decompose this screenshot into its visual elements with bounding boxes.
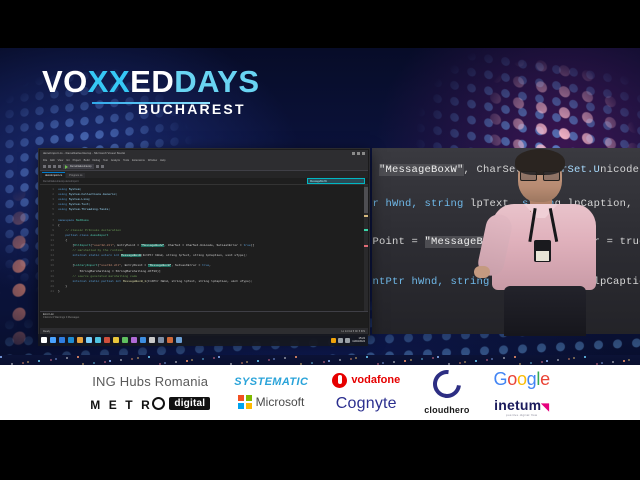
network-node-dot: [191, 359, 193, 361]
taskbar-app-icon-9[interactable]: [122, 337, 128, 343]
menu-item-project[interactable]: Project: [73, 159, 81, 162]
network-node-dot: [459, 362, 461, 364]
google-letter: g: [527, 369, 537, 389]
code-token: System.Threading.Tasks;: [69, 208, 110, 211]
code-token: , EntryPoint =: [121, 264, 148, 267]
sponsor-logo-systematic: SYSTEMATIC: [234, 376, 308, 388]
network-node-dot: [148, 356, 150, 358]
code-token: internal static extern int: [72, 254, 121, 257]
network-node-dot: [104, 361, 106, 363]
menu-item-debug[interactable]: Debug: [92, 159, 100, 162]
speaker-badge: [534, 240, 551, 262]
code-token: "MessageBoxW": [141, 244, 164, 247]
taskbar-app-icon-4[interactable]: [77, 337, 83, 343]
network-node-dot: [421, 358, 423, 360]
speaker-badge-card: [536, 251, 549, 261]
network-node-dot: [486, 359, 488, 361]
voxxed-days-logo: VOXXEDDAYS BUCHAREST: [42, 66, 260, 117]
network-node-dot: [0, 356, 2, 358]
network-node-dot: [623, 360, 625, 362]
code-token: "user32.dll": [99, 264, 121, 267]
projected-code-token: =: [372, 164, 379, 176]
network-node-dot: [514, 356, 516, 358]
projected-code-token: string: [425, 198, 471, 210]
network-node-dot: [93, 362, 95, 364]
code-token: // source generated marshalling code: [72, 275, 137, 278]
projected-code-token: tr hWnd,: [372, 198, 425, 210]
code-token: (IntPtr hWnd, string lpText, string lpCa…: [146, 280, 252, 283]
notification-icon[interactable]: [331, 338, 336, 343]
code-token: "MessageBoxW": [148, 264, 171, 267]
vodafone-speechmark-icon: [332, 373, 347, 388]
code-token: "user32.dll": [92, 244, 114, 247]
code-token: class: [80, 234, 91, 237]
menu-item-analyze[interactable]: Analyze: [111, 159, 120, 162]
taskbar-app-icon-11[interactable]: [140, 337, 146, 343]
network-node-dot: [573, 357, 575, 359]
network-node-dot: [218, 356, 220, 358]
code-token: }: [58, 290, 60, 293]
volume-icon[interactable]: [345, 338, 350, 343]
network-node-dot: [295, 356, 297, 358]
vs-window-title: demoImport.cs - DemoNativeInterop - Micr…: [43, 152, 125, 155]
code-token: MessageBoxW: [121, 254, 141, 257]
microsoft-square-green: [246, 395, 252, 401]
taskbar-app-icon-13[interactable]: [158, 337, 164, 343]
window-controls[interactable]: [352, 152, 365, 155]
network-node-dot: [355, 357, 357, 359]
logo-vo: VO: [42, 64, 88, 99]
network-node-dot: [366, 356, 368, 358]
line-number-gutter: 123456789101112131415161718192021: [40, 185, 56, 311]
code-token: using: [58, 198, 69, 201]
code-token: {: [58, 239, 67, 242]
projected-code-token: yPoint =: [372, 236, 425, 248]
inetum-label: inetum◥: [494, 397, 549, 413]
start-debug-button[interactable]: DemoNativeInterop: [63, 164, 94, 169]
menu-item-help[interactable]: Help: [160, 159, 165, 162]
config-dropdown-icon[interactable]: [96, 165, 99, 168]
editor-scrollbar[interactable]: [364, 185, 368, 311]
sponsor-logo-inetum: inetum◥ positive digital flow: [494, 397, 549, 417]
sponsor-logo-vodafone: vodafone: [332, 373, 400, 388]
taskbar-app-icon-2[interactable]: [59, 337, 65, 343]
speaker-hand: [474, 266, 490, 278]
network-node-dot: [393, 361, 395, 363]
sponsor-group-systematic-microsoft: SYSTEMATIC Microsoft: [234, 376, 308, 409]
network-node-dot: [328, 360, 330, 362]
sponsor-logo-cognyte: Cognyte: [336, 395, 397, 413]
network-node-dot: [137, 357, 139, 359]
metro-label: M E T R: [90, 396, 165, 412]
cloudhero-label: cloudhero: [424, 405, 469, 415]
code-token: LibraryImport: [74, 264, 97, 267]
network-node-dot: [628, 359, 630, 361]
code-token: , SetLastError =: [171, 264, 202, 267]
sponsor-logo-ing-hubs-romania: ING Hubs Romania: [92, 374, 208, 389]
network-node-dot: [284, 357, 286, 359]
projected-code-token: = true,: [600, 236, 640, 248]
projected-code-token: "MessageB: [425, 236, 484, 248]
code-token: // marshalled by the runtime: [72, 249, 122, 252]
code-token: System.Text;: [69, 203, 91, 206]
network-node-dot: [612, 361, 614, 363]
speaker-legs: [504, 286, 586, 336]
microsoft-logo-icon: [238, 395, 252, 409]
taskbar-app-icons[interactable]: [41, 337, 182, 343]
code-token: [: [58, 264, 74, 267]
network-node-dot: [350, 358, 352, 360]
code-token: demoImport: [90, 234, 108, 237]
glasses-icon: [520, 171, 560, 179]
code-token: internal static partial int: [72, 280, 122, 283]
taskbar-app-icon-15[interactable]: [176, 337, 182, 343]
vs-toolbar[interactable]: DemoNativeInterop: [40, 163, 368, 171]
platform-dropdown-icon[interactable]: [101, 165, 104, 168]
search-input[interactable]: MessageBoxW: [307, 178, 365, 185]
network-node-dot: [246, 361, 248, 363]
code-token: , CharSet = CharSet.Unicode, SetLastErro…: [164, 244, 243, 247]
code-token: (IntPtr hWnd, string lpText, string lpCa…: [141, 254, 247, 257]
line-number: 21: [40, 289, 54, 294]
code-token: NatDemo: [76, 219, 89, 222]
network-node-dot: [475, 360, 477, 362]
taskbar-app-icon-8[interactable]: [113, 337, 119, 343]
microsoft-square-blue: [238, 403, 244, 409]
code-token: System.Collections.Generic;: [69, 193, 118, 196]
network-node-dot: [464, 361, 466, 363]
projected-code-token: "MessageBoxW": [379, 164, 464, 176]
ing-hubs-romania-label: ING Hubs Romania: [92, 374, 208, 389]
network-node-dot: [584, 356, 586, 358]
error-list-panel[interactable]: Error List 0 Errors 0 Warnings 0 Message…: [40, 311, 368, 328]
laptop-screen: demoImport.cs - DemoNativeInterop - Micr…: [38, 148, 370, 336]
microsoft-square-yellow: [246, 403, 252, 409]
code-token: // classic P/Invoke declaration: [65, 229, 121, 232]
cognyte-label: Cognyte: [336, 395, 397, 413]
network-node-dot: [601, 362, 603, 364]
menu-item-git[interactable]: Git: [66, 159, 69, 162]
projected-code-token: on, uint u: [613, 198, 640, 210]
windows-taskbar[interactable]: 15:24 11/03/2024: [38, 334, 368, 346]
scroll-marker-warning: [364, 215, 368, 217]
taskbar-app-icon-10[interactable]: [131, 337, 137, 343]
code-token: true: [243, 244, 250, 247]
play-icon: [65, 165, 68, 169]
code-token: System.Linq;: [69, 198, 91, 201]
network-node-dot: [257, 360, 259, 362]
code-token: DllImport: [74, 244, 90, 247]
maximize-icon[interactable]: [357, 152, 360, 155]
sponsor-group-vodafone-cognyte: vodafone Cognyte: [332, 373, 400, 413]
microsoft-label: Microsoft: [256, 395, 305, 409]
network-node-dot: [38, 360, 40, 362]
network-node-dot: [382, 362, 384, 364]
network-node-dot: [557, 359, 559, 361]
menu-item-extensions[interactable]: Extensions: [132, 159, 145, 162]
status-caret-position: Ln 14 Col 5 Ch 5 INS: [341, 330, 365, 333]
vodafone-label: vodafone: [351, 374, 400, 386]
glasses-bridge: [535, 174, 545, 175]
inetum-tagline: positive digital flow: [506, 413, 537, 417]
network-node-dot: [404, 360, 406, 362]
network-node-dot: [323, 361, 325, 363]
code-token: MessageBoxW_1: [123, 280, 146, 283]
breadcrumb: DemoNativeInterop.demoImport: [43, 180, 79, 183]
debug-target-label: DemoNativeInterop: [70, 165, 92, 168]
network-node-dot: [22, 362, 24, 364]
close-icon[interactable]: [362, 152, 365, 155]
code-token: )]: [251, 244, 255, 247]
network-node-dot: [568, 358, 570, 360]
sponsor-band: ING Hubs Romania M E T R digital SYSTEMA…: [0, 355, 640, 420]
undo-icon[interactable]: [58, 165, 61, 168]
menu-item-tools[interactable]: Tools: [123, 159, 129, 162]
google-letter: o: [507, 369, 517, 389]
sponsor-group-ing-metro: ING Hubs Romania M E T R digital: [90, 374, 210, 412]
network-node-dot: [503, 357, 505, 359]
status-ready: Ready: [43, 330, 50, 333]
network-node-dot: [50, 359, 52, 361]
scroll-marker-error: [364, 245, 368, 247]
network-node-dot: [530, 362, 532, 364]
taskbar-clock[interactable]: 15:24 11/03/2024: [352, 337, 365, 343]
network-node-dot: [186, 360, 188, 362]
network-node-dot: [432, 357, 434, 359]
network-node-dot: [213, 357, 215, 359]
scrollbar-thumb[interactable]: [364, 187, 368, 213]
network-icon[interactable]: [338, 338, 343, 343]
metro-ring-icon: [152, 397, 165, 410]
google-letter: G: [494, 369, 508, 389]
network-node-dot: [109, 360, 111, 362]
glasses-lens-right: [543, 171, 560, 181]
sponsor-logo-google: Google: [494, 369, 550, 390]
network-node-dot: [77, 356, 79, 358]
sponsor-group-google-inetum: Google inetum◥ positive digital flow: [494, 369, 550, 417]
systematic-label: SYSTEMATIC: [234, 376, 308, 388]
code-token: ,: [209, 264, 211, 267]
glasses-lens-left: [520, 171, 537, 181]
code-line[interactable]: }: [58, 289, 368, 294]
menu-item-test[interactable]: Test: [103, 159, 108, 162]
code-token: namespace: [58, 219, 76, 222]
letterbox-top: [0, 0, 640, 48]
sponsor-logo-metro-digital: M E T R digital: [90, 396, 210, 412]
cloudhero-swirl-icon: [427, 364, 466, 403]
network-node-dot: [541, 361, 543, 363]
vs-navigation-bar[interactable]: DemoNativeInterop.demoImport MessageBoxW: [40, 178, 368, 185]
minimize-icon[interactable]: [352, 152, 355, 155]
code-token: [: [58, 244, 74, 247]
logo-xx: XX: [88, 64, 130, 99]
code-editor-text[interactable]: using System;using System.Collections.Ge…: [56, 185, 368, 311]
speaker-person: [490, 152, 600, 334]
metro-digital-label: digital: [169, 397, 210, 410]
network-node-dot: [241, 362, 243, 364]
network-node-dot: [268, 359, 270, 361]
forward-icon[interactable]: [48, 165, 51, 168]
google-letter: o: [517, 369, 527, 389]
menu-item-window[interactable]: Window: [148, 159, 157, 162]
logo-underline: [92, 102, 210, 104]
network-node-dot: [131, 358, 133, 360]
menu-item-build[interactable]: Build: [84, 159, 90, 162]
network-node-dot: [546, 360, 548, 362]
save-icon[interactable]: [53, 165, 56, 168]
letterbox-bottom: [0, 420, 640, 480]
code-token: [58, 275, 72, 278]
google-letter: e: [540, 369, 550, 389]
menu-item-file[interactable]: File: [43, 159, 47, 162]
menu-item-view[interactable]: View: [58, 159, 64, 162]
code-token: using: [58, 203, 69, 206]
code-token: [58, 249, 72, 252]
code-token: partial: [65, 234, 79, 237]
logo-ed: ED: [130, 64, 174, 99]
code-token: using: [58, 193, 69, 196]
visual-studio-window: demoImport.cs - DemoNativeInterop - Micr…: [40, 150, 368, 334]
taskbar-app-icon-6[interactable]: [95, 337, 101, 343]
inetum-accent-icon: ◥: [541, 402, 549, 413]
projected-code-token: IntPtr hWnd,: [372, 276, 451, 288]
taskbar-app-icon-14[interactable]: [167, 337, 173, 343]
taskbar-app-icon-3[interactable]: [68, 337, 74, 343]
taskbar-app-icon-0[interactable]: [41, 337, 47, 343]
sponsor-group-cloudhero: cloudhero: [424, 370, 469, 415]
projected-code-token: nicode, SetL: [600, 164, 640, 176]
network-node-dot: [55, 358, 57, 360]
screenshot-stage: VOXXEDDAYS BUCHAREST = "MessageBoxW", Ch…: [0, 0, 640, 480]
network-node-dot: [273, 358, 275, 360]
search-value: MessageBoxW: [310, 180, 327, 183]
network-pattern-strip: [0, 355, 640, 365]
code-token: , EntryPoint =: [114, 244, 141, 247]
network-node-dot: [311, 362, 313, 364]
clock-date: 11/03/2024: [352, 340, 365, 343]
network-node-dot: [164, 362, 166, 364]
taskbar-app-icon-12[interactable]: [149, 337, 155, 343]
error-list-summary: 0 Errors 0 Warnings 0 Messages: [43, 316, 365, 319]
code-token: {: [58, 224, 60, 227]
code-token: [58, 254, 72, 257]
logo-days: DAYS: [174, 64, 259, 99]
network-node-dot: [202, 358, 204, 360]
network-node-dot: [339, 359, 341, 361]
code-token: using: [58, 188, 69, 191]
back-icon[interactable]: [43, 165, 46, 168]
scroll-marker-change: [364, 229, 368, 231]
logo-wordmark: VOXXEDDAYS: [42, 66, 260, 97]
sponsor-logos: ING Hubs Romania M E T R digital SYSTEMA…: [0, 365, 640, 420]
network-node-dot: [66, 357, 68, 359]
code-token: }: [58, 285, 67, 288]
network-node-dot: [27, 361, 29, 363]
network-node-dot: [410, 359, 412, 361]
network-node-dot: [120, 359, 122, 361]
google-label: Google: [494, 369, 550, 390]
code-token: using: [58, 208, 69, 211]
taskbar-app-icon-7[interactable]: [104, 337, 110, 343]
taskbar-app-icon-5[interactable]: [86, 337, 92, 343]
network-node-dot: [491, 358, 493, 360]
sponsor-logo-microsoft: Microsoft: [238, 395, 304, 409]
vs-titlebar: demoImport.cs - DemoNativeInterop - Micr…: [40, 150, 368, 157]
code-token: StringMarshalling = StringMarshalling.Ut…: [58, 270, 161, 273]
network-node-dot: [437, 356, 439, 358]
taskbar-system-tray[interactable]: 15:24 11/03/2024: [331, 337, 365, 343]
taskbar-app-icon-1[interactable]: [50, 337, 56, 343]
code-token: System;: [69, 188, 82, 191]
network-node-dot: [175, 361, 177, 363]
vs-editor-body[interactable]: 123456789101112131415161718192021 using …: [40, 185, 368, 311]
microsoft-square-red: [238, 395, 244, 401]
menu-item-edit[interactable]: Edit: [50, 159, 54, 162]
code-token: [58, 280, 72, 283]
